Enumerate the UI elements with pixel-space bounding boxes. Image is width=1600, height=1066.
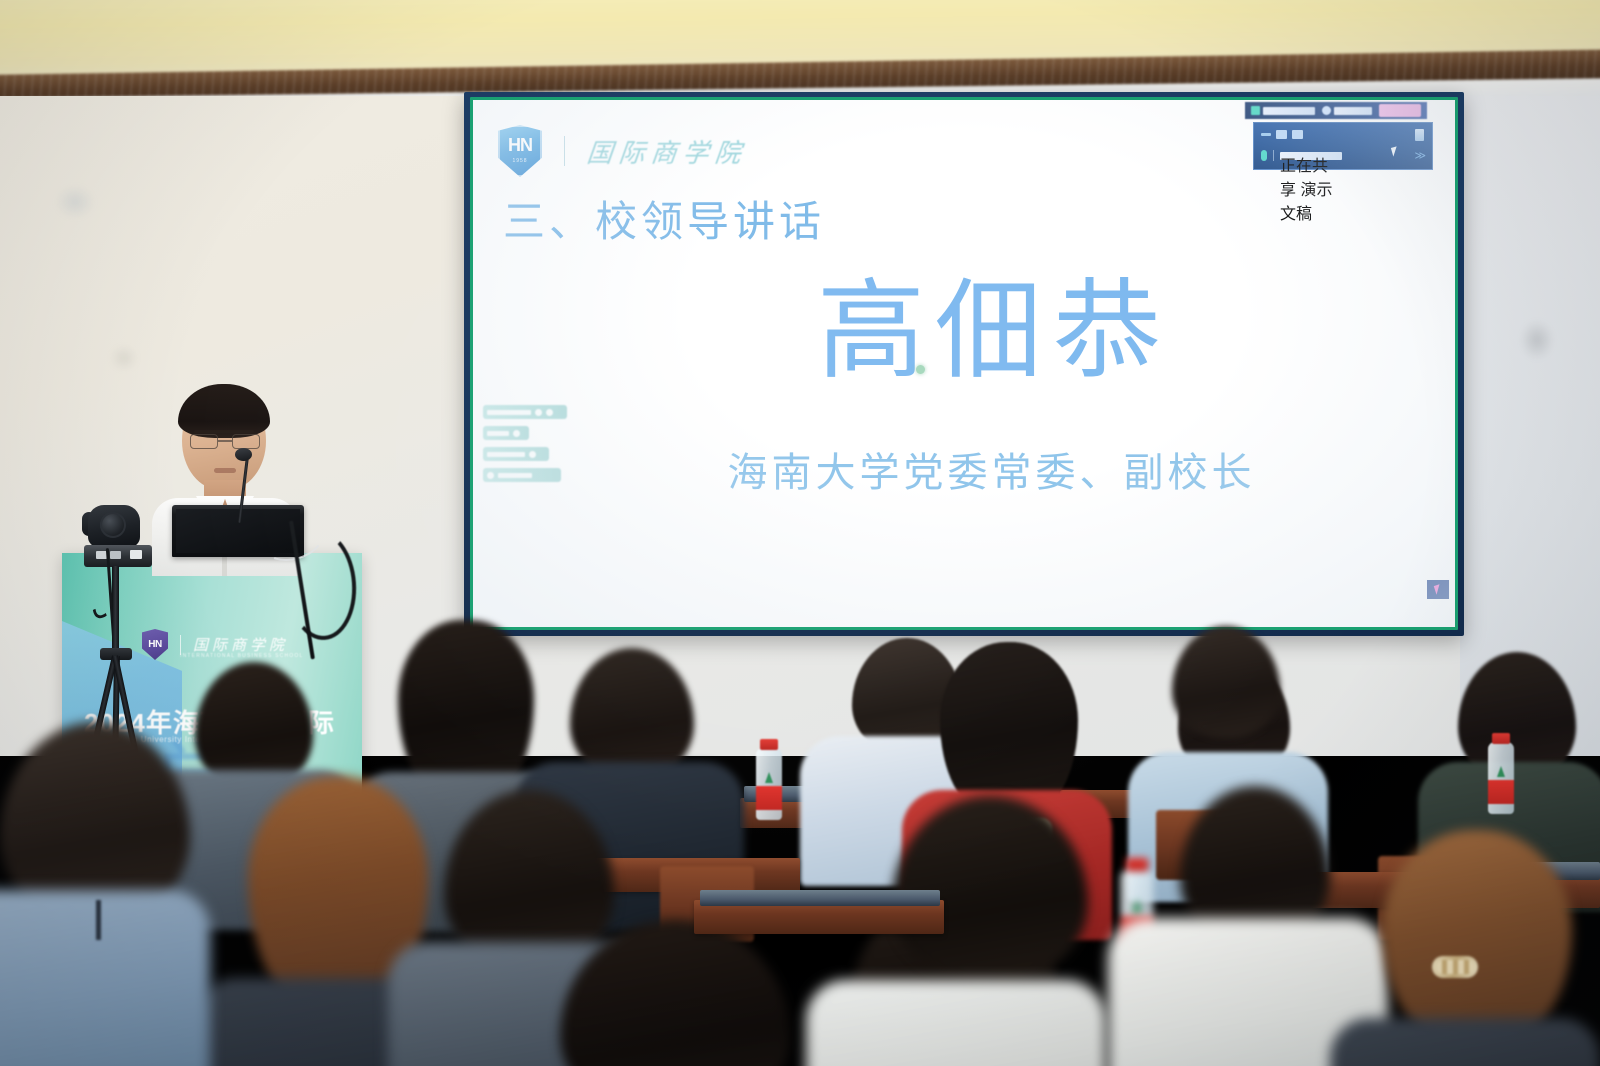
bottle-logo-icon	[1497, 766, 1505, 777]
camera-led	[110, 551, 121, 559]
screen-display-area: 信号状态良好 共享进行中 HN 1958 国际商学院	[473, 100, 1455, 627]
presenter-glasses	[190, 434, 260, 449]
desk-surface	[700, 890, 940, 906]
lanyard-strap	[96, 900, 101, 940]
wall-smudge	[1520, 320, 1554, 360]
share-status: 共享进行中	[1322, 106, 1372, 115]
brand-divider	[564, 136, 565, 166]
hn-shield-year: 1958	[512, 158, 527, 164]
audience-area	[0, 600, 1600, 1066]
presenter-mouth	[214, 468, 236, 473]
hn-shield-letters: HN	[508, 136, 532, 154]
control-panel-status-row: 正在共享 演示文稿	[1261, 150, 1342, 161]
bottle-label	[756, 786, 782, 810]
screen-share-control-panel[interactable]: 正在共享 演示文稿 ≫	[1253, 122, 1433, 170]
hn-shield-logo-icon: HN 1958	[498, 125, 542, 177]
speaker-role: 海南大学党委常委、副校长	[473, 440, 1455, 498]
presenter-eyebrows	[194, 430, 254, 433]
divider	[1273, 150, 1274, 161]
water-bottle	[1488, 742, 1514, 814]
school-calligraphy-name: 国际商学院	[585, 133, 749, 170]
bottle-cap	[1126, 858, 1149, 872]
hair-clip	[1432, 956, 1478, 978]
mouse-cursor-icon	[1391, 146, 1399, 156]
water-bottle	[756, 748, 782, 820]
audience-head	[940, 642, 1078, 812]
conference-chip-stack[interactable]	[483, 405, 567, 482]
chip-item[interactable]	[483, 426, 529, 440]
signal-bars-icon	[1251, 106, 1260, 115]
projection-screen: 信号状态良好 共享进行中 HN 1958 国际商学院	[464, 92, 1464, 636]
conference-status-bar: 信号状态良好 共享进行中	[1245, 102, 1427, 119]
globe-icon	[1322, 106, 1331, 115]
audience-head	[570, 648, 694, 780]
microphone-icon[interactable]	[1261, 150, 1267, 161]
bottle-logo-icon	[1132, 899, 1142, 913]
status-pill	[1379, 104, 1421, 117]
audience-body	[806, 980, 1106, 1066]
chip-item[interactable]	[483, 447, 549, 461]
audience-body	[0, 890, 210, 1066]
chevron-down-icon[interactable]: ≫	[1414, 149, 1424, 162]
audience-head	[1382, 830, 1572, 1040]
control-panel-toolbar[interactable]	[1261, 130, 1303, 139]
bottle-cap	[1492, 733, 1510, 744]
audience-body	[1330, 1018, 1600, 1066]
chip-item[interactable]	[483, 468, 561, 482]
secondary-cursor-indicator	[1427, 580, 1449, 599]
laser-pointer-dot	[916, 365, 925, 374]
speaker-name: 高佃恭	[473, 274, 1455, 387]
chip-item[interactable]	[483, 405, 567, 419]
bottle-cap	[760, 739, 778, 750]
microphone-head-icon	[235, 448, 252, 461]
conference-photo-scene: 信号状态良好 共享进行中 HN 1958 国际商学院	[0, 0, 1600, 1066]
camera-lens-icon	[100, 512, 126, 538]
bottle-label	[1488, 780, 1514, 804]
camera-button	[130, 550, 142, 559]
panel-menu-icon[interactable]	[1415, 129, 1424, 141]
signal-status: 信号状态良好	[1251, 106, 1315, 115]
presentation-slide: 信号状态良好 共享进行中 HN 1958 国际商学院	[473, 100, 1455, 627]
slide-section-title: 三、校领导讲话	[503, 188, 825, 249]
share-status-label: 共享进行中	[1334, 107, 1372, 115]
signal-status-label: 信号状态良好	[1263, 107, 1315, 115]
minimize-icon[interactable]	[1261, 133, 1271, 136]
window-icon[interactable]	[1276, 130, 1287, 139]
audience-head	[1172, 626, 1280, 738]
share-status-text: 正在共享 演示文稿	[1280, 152, 1342, 160]
wall-mark	[55, 185, 95, 219]
document-icon[interactable]	[1292, 130, 1303, 139]
slide-brand-row: HN 1958 国际商学院	[498, 125, 747, 177]
wall-mark	[110, 345, 138, 371]
bottle-logo-icon	[765, 772, 773, 783]
